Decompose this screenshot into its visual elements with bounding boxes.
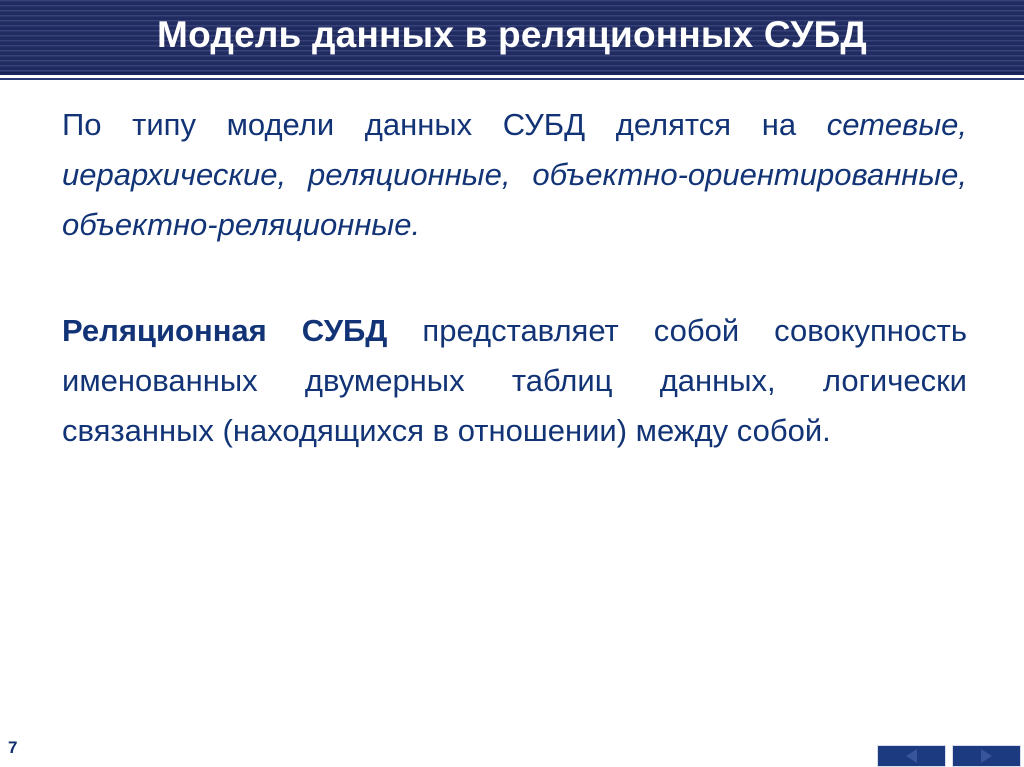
previous-slide-button[interactable]	[877, 745, 946, 767]
navigation-buttons	[877, 745, 1023, 767]
paragraph-1-run-normal: По типу модели данных СУБД делятся на	[62, 107, 827, 142]
paragraph-data-model-types: По типу модели данных СУБД делятся на се…	[62, 100, 967, 250]
page-title: Модель данных в реляционных СУБД	[0, 14, 1024, 56]
slide-header-banner: Модель данных в реляционных СУБД	[0, 0, 1024, 75]
triangle-left-icon	[906, 749, 917, 763]
paragraph-relational-dbms-definition: Реляционная СУБД представляет собой сово…	[62, 306, 967, 456]
triangle-right-icon	[981, 749, 992, 763]
header-divider-rule	[0, 78, 1024, 80]
paragraph-2-run-bold: Реляционная СУБД	[62, 313, 387, 348]
slide-content-body: По типу модели данных СУБД делятся на се…	[62, 100, 967, 456]
next-slide-button[interactable]	[952, 745, 1021, 767]
page-number: 7	[8, 738, 17, 758]
